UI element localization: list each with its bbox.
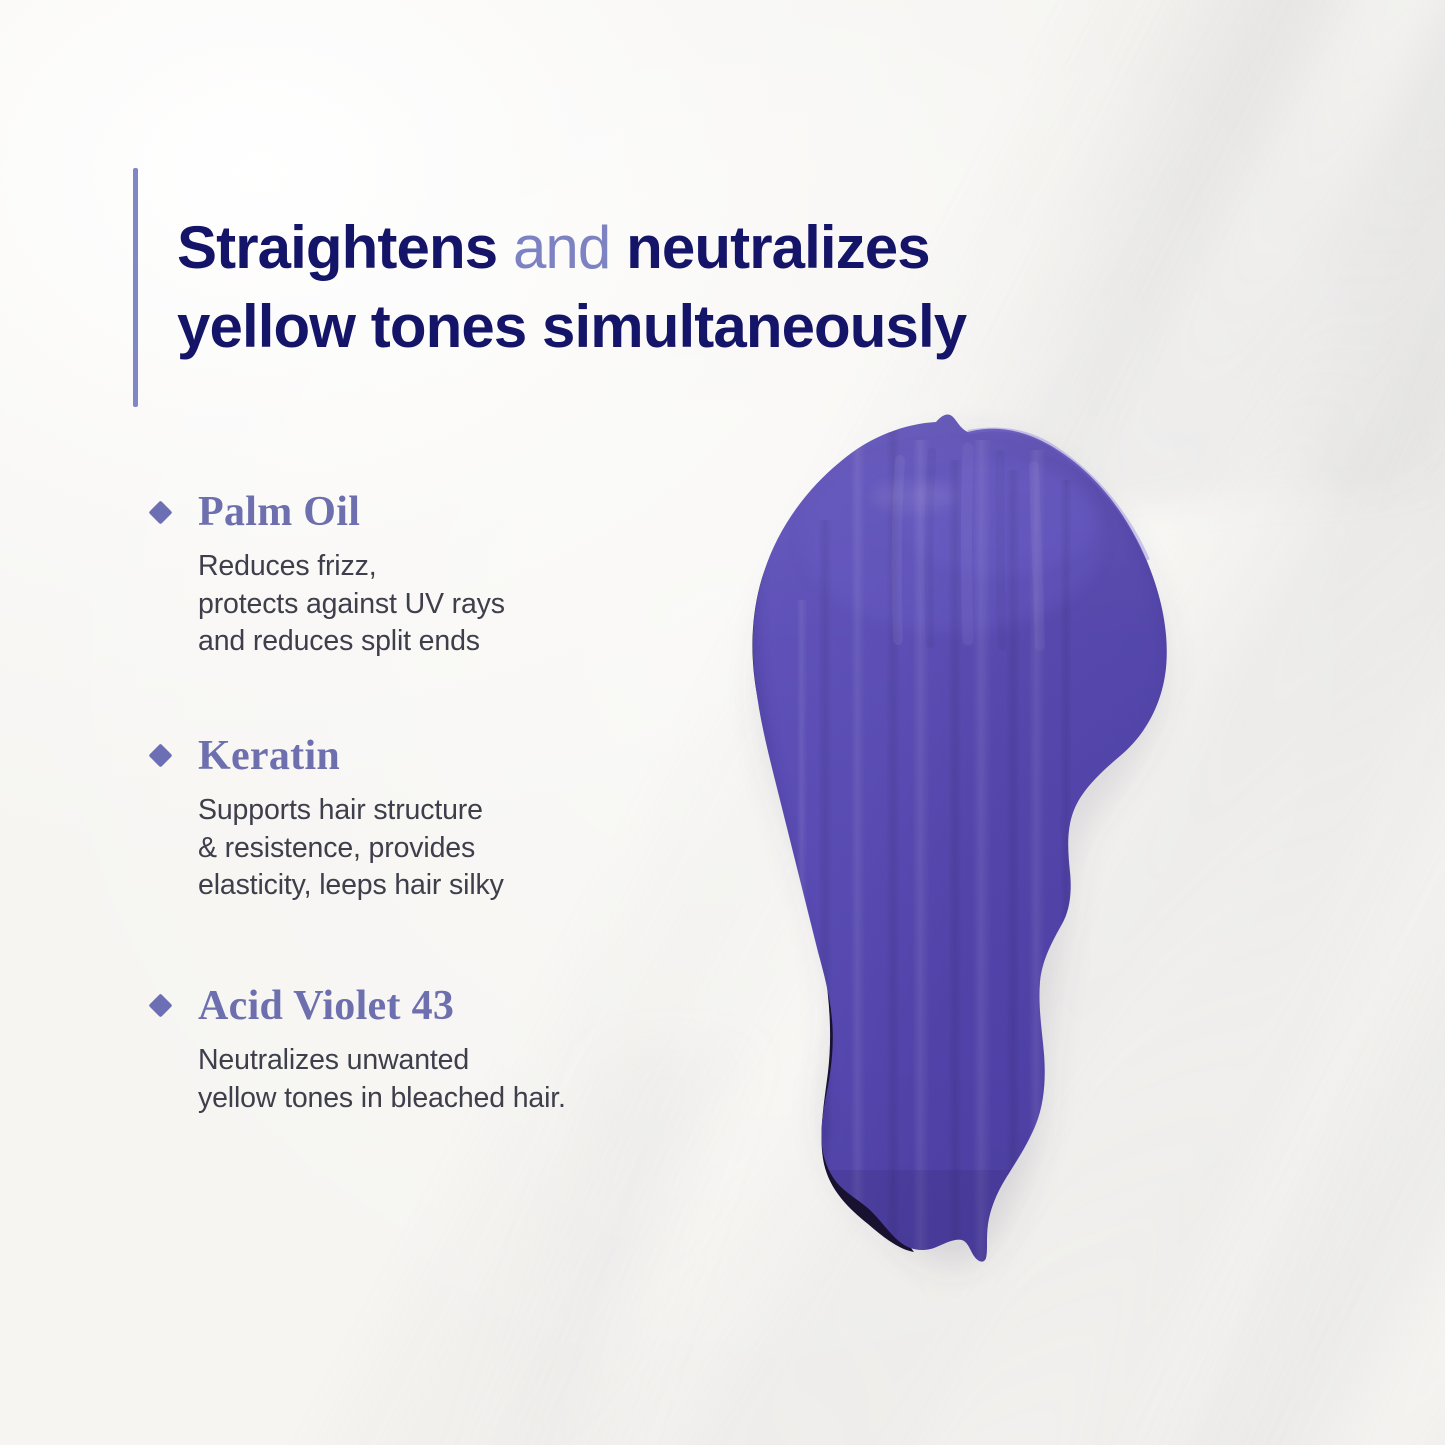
ingredient-desc-line: yellow tones in bleached hair. [198,1080,710,1118]
ingredient-description: Supports hair structure & resistence, pr… [198,792,710,905]
ingredient-description: Neutralizes unwanted yellow tones in ble… [198,1042,710,1117]
ingredient-name: Palm Oil [198,490,360,534]
diamond-bullet-icon [148,744,172,768]
diamond-bullet-icon [148,994,172,1018]
headline-block: Straightens and neutralizes yellow tones… [133,168,966,407]
ingredient-name: Acid Violet 43 [198,984,454,1028]
headline-part-1: Straightens [177,214,497,281]
swatch-body [700,400,1220,1350]
list-item: Acid Violet 43 Neutralizes unwanted yell… [150,984,710,1117]
ingredient-desc-line: Reduces frizz, [198,548,710,586]
page-title: Straightens and neutralizes yellow tones… [177,208,966,366]
ingredient-heading: Acid Violet 43 [150,984,710,1028]
list-item: Keratin Supports hair structure & resist… [150,734,710,905]
ingredient-list: Palm Oil Reduces frizz, protects against… [150,490,710,1117]
paint-swatch [700,400,1220,1350]
headline-line-2: yellow tones simultaneously [177,287,966,366]
product-ingredients-infographic: Straightens and neutralizes yellow tones… [0,0,1445,1445]
ingredient-description: Reduces frizz, protects against UV rays … [198,548,710,661]
headline-accent-rule [133,168,138,407]
diamond-bullet-icon [148,500,172,524]
headline-part-soft: and [513,214,610,281]
headline-part-2: neutralizes [626,214,930,281]
ingredient-name: Keratin [198,734,340,778]
ingredient-heading: Keratin [150,734,710,778]
ingredient-desc-line: elasticity, leeps hair silky [198,867,710,905]
ingredient-desc-line: protects against UV rays [198,586,710,624]
list-item: Palm Oil Reduces frizz, protects against… [150,490,710,661]
ingredient-desc-line: & resistence, provides [198,830,710,868]
ingredient-desc-line: Neutralizes unwanted [198,1042,710,1080]
headline-line-1: Straightens and neutralizes [177,208,966,287]
ingredient-desc-line: and reduces split ends [198,623,710,661]
ingredient-desc-line: Supports hair structure [198,792,710,830]
ingredient-heading: Palm Oil [150,490,710,534]
